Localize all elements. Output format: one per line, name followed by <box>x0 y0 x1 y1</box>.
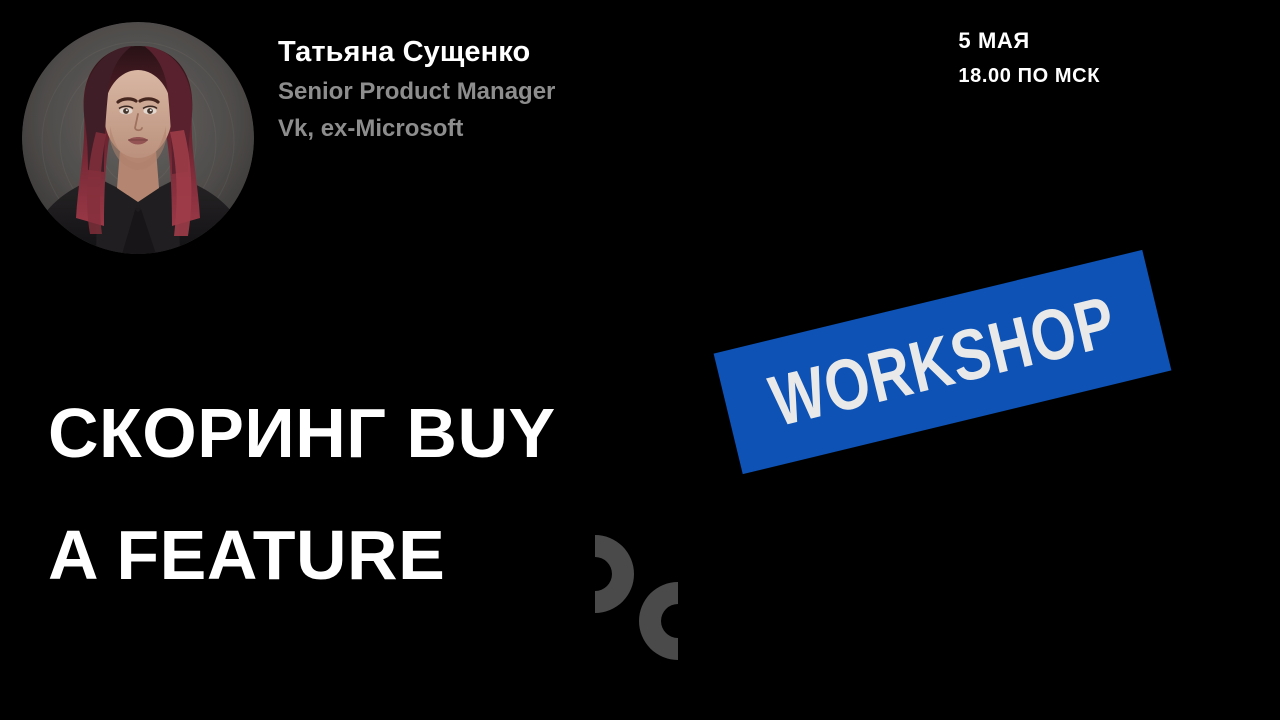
workshop-badge-area: WORKSHOP <box>722 237 1192 487</box>
workshop-badge-label: WORKSHOP <box>763 286 1122 439</box>
speaker-company: Vk, ex-Microsoft <box>278 117 638 141</box>
speaker-block: Татьяна Сущенко Senior Product Manager V… <box>22 22 642 252</box>
poster-canvas: Татьяна Сущенко Senior Product Manager V… <box>0 0 1280 720</box>
headline-block: СКОРИНГ BUY A FEATURE <box>48 398 748 590</box>
event-date: 5 МАЯ <box>958 30 1100 52</box>
headline-line-1: СКОРИНГ BUY <box>48 398 748 468</box>
schedule-block: 5 МАЯ 18.00 ПО МСК <box>958 30 1100 86</box>
speaker-role: Senior Product Manager <box>278 80 638 104</box>
speaker-details: Татьяна Сущенко Senior Product Manager V… <box>278 38 638 141</box>
avatar <box>22 22 254 254</box>
event-time: 18.00 ПО МСК <box>958 66 1100 86</box>
headline-line-2: A FEATURE <box>48 520 748 590</box>
speaker-name: Татьяна Сущенко <box>278 38 638 67</box>
workshop-badge: WORKSHOP <box>714 250 1172 474</box>
avatar-portrait-image <box>22 22 254 254</box>
